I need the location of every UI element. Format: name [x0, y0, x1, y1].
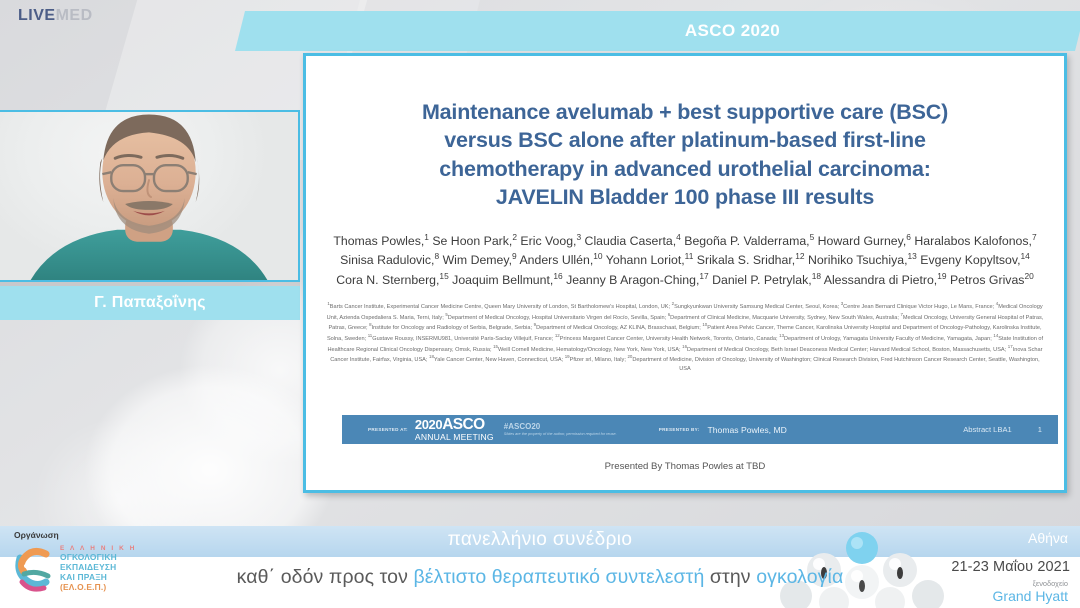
- presented-by-label: PRESENTED BY:: [659, 427, 700, 432]
- slide-affiliations: 1Barts Cancer Institute, Experimental Ca…: [306, 301, 1064, 374]
- congress-date: 21-23 Μαΐου 2021: [951, 559, 1070, 575]
- asco-hashtag-note: Slides are the property of the author, p…: [504, 432, 617, 436]
- asco-logo-name: ASCO: [442, 416, 484, 433]
- speaker-video[interactable]: [0, 110, 300, 282]
- venue-label: ξενοδοχείο: [1033, 579, 1068, 588]
- speaker-name: Γ. Παπαξοΐνης: [94, 294, 206, 312]
- eloep-logo: Ε Λ Λ Η Ν Ι Κ Η ΟΓΚΟΛΟΓΙΚΗ ΕΚΠΑΙΔΕΥΣΗ ΚΑ…: [12, 544, 136, 594]
- slide-footer-right: Abstract LBA1 1: [963, 425, 1058, 434]
- organizer-label: Οργάνωση: [14, 530, 59, 540]
- asco-logo-year: 2020: [415, 417, 442, 432]
- presented-by-note: Presented By Thomas Powles at TBD: [306, 461, 1064, 472]
- venue-name: Grand Hyatt: [993, 588, 1068, 604]
- webcam-video-icon: [0, 112, 298, 280]
- slide-title: Maintenance avelumab + best supportive c…: [306, 98, 1064, 212]
- congress-heading: πανελλήνιο συνέδριο: [0, 529, 1080, 551]
- slide-title-line: chemotherapy in advanced urothelial carc…: [346, 155, 1024, 183]
- tagline-part-1: καθ΄ οδόν προς τον: [237, 566, 414, 588]
- presented-at-label: PRESENTED AT:: [368, 427, 408, 432]
- slide-page-number: 1: [1038, 425, 1042, 434]
- eloep-swirl-icon: [12, 544, 56, 594]
- slide-author-list: Thomas Powles,1 Se Hoon Park,2 Eric Voog…: [306, 231, 1064, 290]
- livemed-logo-suffix: MED: [56, 7, 93, 24]
- asco-hashtag: #ASCO20: [504, 423, 617, 432]
- livemed-logo: LIVEMED: [18, 7, 93, 25]
- asco-logo-subtitle: ANNUAL MEETING: [415, 433, 494, 442]
- slide-title-line: JAVELIN Bladder 100 phase III results: [346, 183, 1024, 211]
- header-band-content: ASCO 2020: [240, 11, 1080, 51]
- congress-tagline: καθ΄ οδόν προς τον βέλτιστο θεραπευτικό …: [0, 566, 1080, 589]
- eloep-logo-mark: [12, 544, 56, 594]
- tagline-part-2: βέλτιστο θεραπευτικό συντελεστή: [413, 566, 709, 588]
- livemed-logo-prefix: LIVE: [18, 7, 56, 24]
- eloep-line-4: (ΕΛ.Ο.Ε.Π.): [60, 583, 136, 593]
- eloep-logo-text: Ε Λ Λ Η Ν Ι Κ Η ΟΓΚΟΛΟΓΙΚΗ ΕΚΠΑΙΔΕΥΣΗ ΚΑ…: [60, 545, 136, 592]
- page-title: ASCO 2020: [685, 21, 780, 41]
- slide-title-line: versus BSC alone after platinum-based fi…: [346, 126, 1024, 154]
- abstract-number: Abstract LBA1: [963, 425, 1012, 434]
- speaker-name-bar: Γ. Παπαξοΐνης: [0, 286, 300, 320]
- presenter-name: Thomas Powles, MD: [708, 425, 787, 435]
- presentation-slide[interactable]: Maintenance avelumab + best supportive c…: [303, 53, 1067, 493]
- congress-banner: πανελλήνιο συνέδριο καθ΄ οδόν προς τον β…: [0, 526, 1080, 608]
- slide-title-line: Maintenance avelumab + best supportive c…: [346, 98, 1024, 126]
- congress-city: Αθήνα: [1028, 530, 1068, 546]
- asco-hashtag-block: #ASCO20 Slides are the property of the a…: [504, 423, 617, 436]
- asco-logo: 2020ASCO ANNUAL MEETING: [415, 417, 494, 442]
- tagline-part-3: στην: [710, 566, 756, 588]
- slide-footer-bar: PRESENTED AT: 2020ASCO ANNUAL MEETING #A…: [342, 415, 1058, 444]
- livestream-page: LIVEMED ASCO 2020: [0, 0, 1080, 608]
- slide-content: Maintenance avelumab + best supportive c…: [306, 56, 1064, 490]
- tagline-part-4: ογκολογία: [756, 566, 843, 588]
